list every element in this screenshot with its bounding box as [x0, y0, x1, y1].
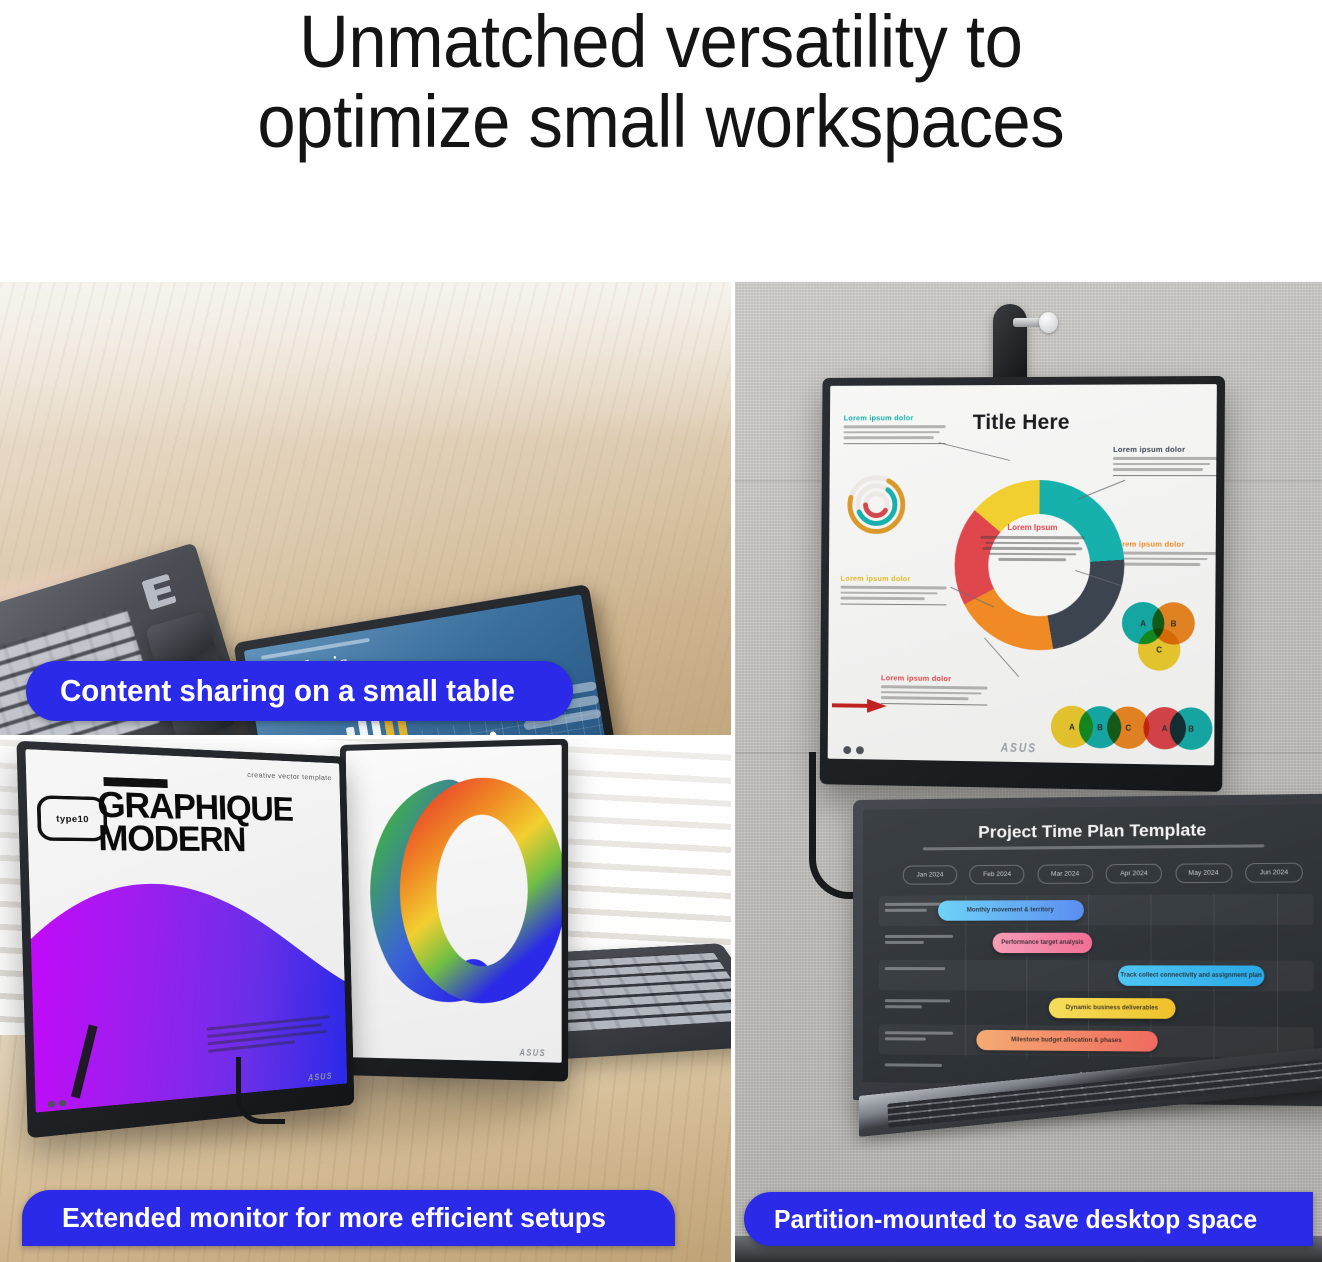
poster-title: GRAPHIQUE MODERN [97, 788, 294, 856]
note-mid-right: Lorem ipsum dolor [1112, 539, 1217, 568]
partition-scene-background: Title Here Lorem ipsum dolor Lorem ipsum… [735, 282, 1322, 1262]
gantt-rows: Monthly movement & territory Performance… [879, 894, 1314, 1060]
gantt-bar: Dynamic business deliverables [1049, 998, 1175, 1019]
month-chip-jan: Jan 2024 [903, 865, 957, 884]
gantt-month-header: Jan 2024 Feb 2024 Mar 2024 Apr 2024 May … [903, 863, 1303, 885]
venn-abc: A B C [1122, 602, 1210, 675]
monitor-screen-mounted: Title Here Lorem ipsum dolor Lorem ipsum… [828, 384, 1217, 765]
caption-partition-mounted-label: Partition-mounted to save desktop space [774, 1204, 1257, 1235]
caption-content-sharing: Content sharing on a small table [26, 661, 573, 721]
mini-ring-chart [845, 473, 908, 537]
gantt-row: Performance target analysis [879, 927, 1314, 958]
office-scene-background: ASUS creative vector template type10 [0, 739, 731, 1262]
poster-title-line-2: MODERN [98, 817, 246, 859]
gantt-subtitle-line [923, 844, 1264, 850]
grid-divider-vertical [731, 282, 735, 1262]
portable-monitor-secondary: ASUS [340, 739, 568, 1082]
gantt-row-label [885, 935, 953, 947]
note-mid-left-rule [840, 603, 946, 605]
donut-center-heading: Lorem Ipsum [977, 523, 1089, 532]
note-bottom-left: Lorem ipsum dolor [881, 673, 988, 705]
gantt-bar: Track collect connectivity and assignmen… [1118, 965, 1264, 986]
leader-line-2 [1078, 480, 1125, 500]
mount-pin-cap [1039, 312, 1058, 333]
headline-line-2: optimize small workspaces [258, 80, 1065, 163]
page-title: Unmatched versatility to optimize small … [258, 2, 1065, 162]
venn-circle-c: C [1138, 628, 1181, 671]
infographic-slide: Title Here Lorem ipsum dolor Lorem ipsum… [828, 384, 1217, 765]
note-top-right-heading: Lorem ipsum dolor [1113, 445, 1217, 454]
donut-center-text: Lorem Ipsum [976, 523, 1088, 564]
month-chip-jun: Jun 2024 [1245, 863, 1303, 883]
caption-content-sharing-label: Content sharing on a small table [60, 673, 515, 709]
partition-mounted-monitor: Title Here Lorem ipsum dolor Lorem ipsum… [820, 376, 1225, 792]
note-top-left-heading: Lorem ipsum dolor [844, 413, 946, 422]
gantt-row: Dynamic business deliverables [879, 992, 1314, 1025]
note-top-left: Lorem ipsum dolor [843, 413, 945, 444]
venn-pair-circle-b: B [1170, 707, 1213, 750]
gantt-row-label [885, 1063, 953, 1070]
scene-partition-mounted: Title Here Lorem ipsum dolor Lorem ipsum… [735, 282, 1322, 1262]
gantt-bar: Monthly movement & territory [938, 900, 1084, 921]
month-chip-mar: Mar 2024 [1037, 864, 1093, 884]
note-mid-left-heading: Lorem ipsum dolor [841, 574, 947, 584]
gantt-title: Project Time Plan Template [978, 820, 1206, 843]
month-chip-feb: Feb 2024 [970, 865, 1025, 885]
gantt-bar: Performance target analysis [993, 933, 1092, 953]
headline-banner: Unmatched versatility to optimize small … [0, 0, 1322, 282]
asus-brand-secondary: ASUS [519, 1047, 546, 1058]
gantt-row-label [885, 999, 953, 1011]
scene-extended-monitor: ASUS creative vector template type10 [0, 739, 731, 1262]
note-bottom-left-rule [881, 703, 988, 706]
caption-partition-mounted: Partition-mounted to save desktop space [744, 1192, 1313, 1246]
main-donut-chart [954, 480, 1125, 651]
monitor-screen-secondary: ASUS [346, 745, 562, 1063]
gantt-row-label [885, 1031, 953, 1044]
laptop-logo [141, 573, 177, 610]
gantt-row: Milestone budget allocation & phases [879, 1024, 1314, 1058]
venn-ab: A B [1143, 707, 1217, 755]
product-marketing-image: Unmatched versatility to optimize small … [0, 0, 1322, 1262]
month-chip-may: May 2024 [1175, 863, 1232, 883]
note-bottom-left-heading: Lorem ipsum dolor [881, 673, 988, 683]
note-top-right-rule [1113, 475, 1217, 477]
caption-extended-monitor-label: Extended monitor for more efficient setu… [62, 1202, 606, 1234]
gantt-row: Track collect connectivity and assignmen… [879, 960, 1314, 992]
poster-kicker: creative vector template [247, 772, 332, 782]
note-mid-left: Lorem ipsum dolor [840, 574, 946, 606]
month-chip-apr: Apr 2024 [1106, 864, 1162, 884]
laptop-below: Project Time Plan Template Jan 2024 Feb … [853, 800, 1322, 1150]
infographic-title: Title Here [973, 411, 1070, 435]
headline-line-1: Unmatched versatility to [299, 0, 1022, 83]
gantt-slide: Project Time Plan Template Jan 2024 Feb … [863, 804, 1322, 1087]
gantt-bar: Milestone budget allocation & phases [976, 1030, 1158, 1052]
gantt-row-label [885, 967, 953, 973]
note-mid-right-heading: Lorem ipsum dolor [1112, 539, 1216, 549]
note-top-left-rule [843, 443, 945, 445]
rainbow-ribbon-graphic [352, 763, 562, 1023]
mount-pin [1013, 312, 1057, 332]
red-arrow-right-icon [832, 698, 887, 713]
laptop-screen: Project Time Plan Template Jan 2024 Feb … [863, 804, 1322, 1087]
caption-extended-monitor: Extended monitor for more efficient setu… [22, 1190, 675, 1246]
gantt-row: Monthly movement & territory [879, 894, 1314, 926]
grid-divider-horizontal [0, 735, 731, 739]
usb-c-cable-secondary [236, 1057, 285, 1124]
leader-line-1 [939, 442, 1010, 461]
note-top-right: Lorem ipsum dolor [1113, 445, 1217, 476]
asus-brand-mounted: ASUS [1001, 740, 1038, 756]
monitor-bezel-mounted: Title Here Lorem ipsum dolor Lorem ipsum… [820, 376, 1225, 792]
photo-grid: Analysis +89% [0, 282, 1322, 1262]
monitor-bezel-secondary: ASUS [340, 739, 568, 1082]
